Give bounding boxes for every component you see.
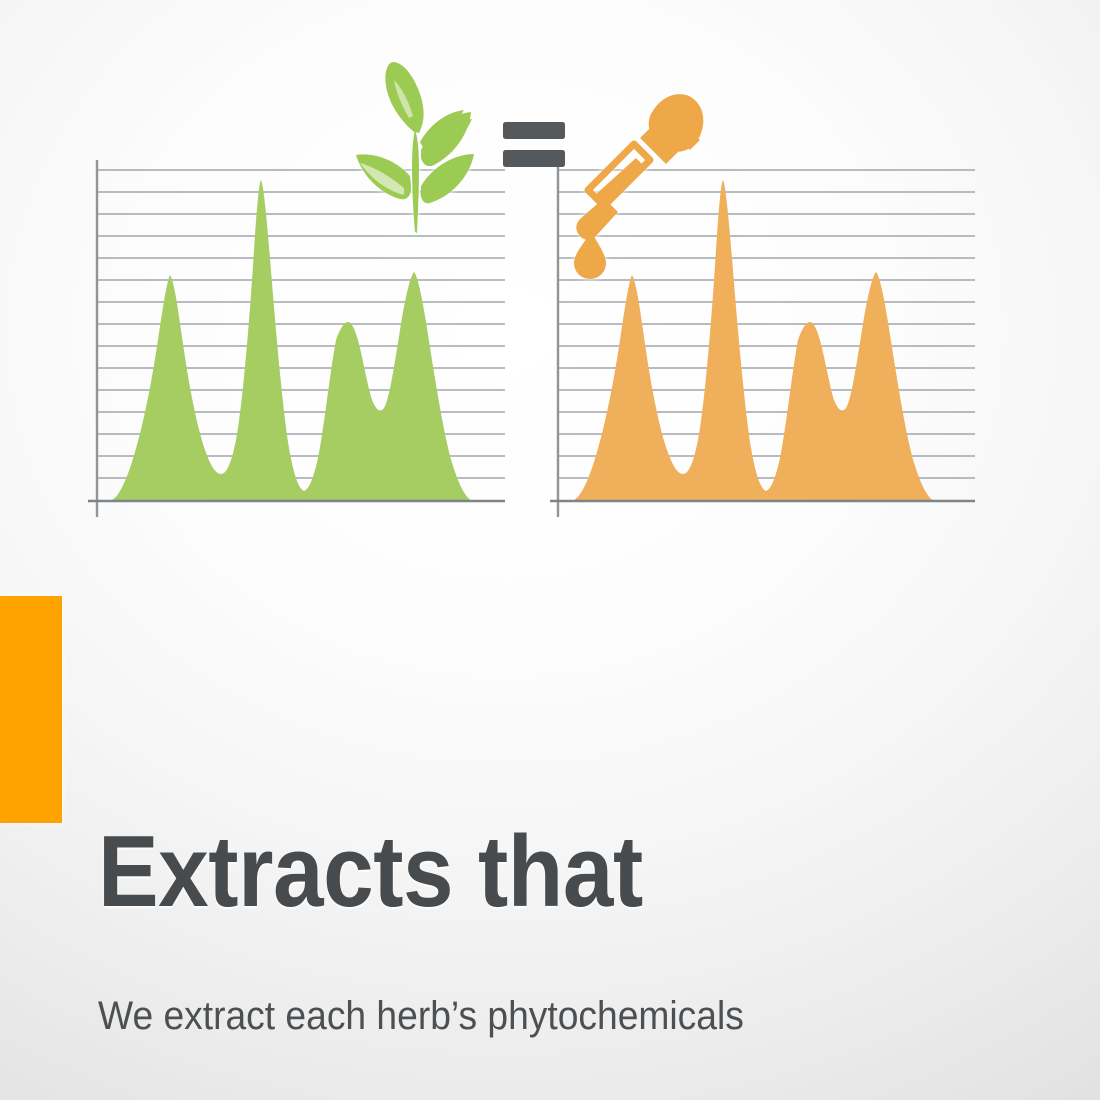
chromatogram-comparison (0, 0, 1100, 560)
body-copy: We extract each herb’s phytochemicals as… (98, 884, 916, 1100)
accent-bar (0, 596, 62, 823)
infographic-canvas: Extracts that mirror the plant We extrac… (0, 0, 1100, 1100)
plant-sprout-icon (356, 62, 474, 233)
equals-icon (503, 122, 565, 167)
dropper-pipette-icon (574, 94, 703, 279)
plant-chart (88, 160, 505, 517)
body-line-1: We extract each herb’s phytochemicals (98, 990, 916, 1043)
plant-chart-area (110, 180, 472, 501)
extract-chart-area (572, 180, 934, 501)
